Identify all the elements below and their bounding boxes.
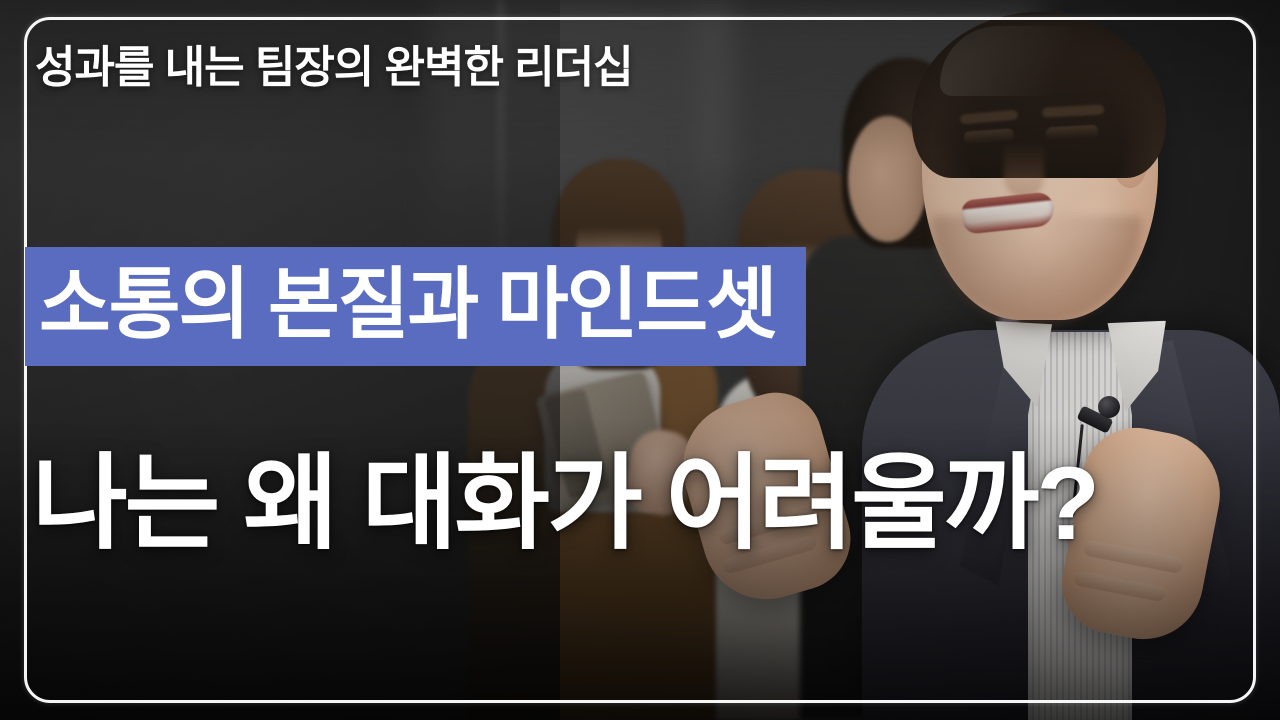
main-headline: 나는 왜 대화가 어려울까? — [32, 452, 1097, 556]
course-series-title: 성과를 내는 팀장의 완벽한 리더십 — [35, 45, 633, 91]
video-thumbnail: 성과를 내는 팀장의 완벽한 리더십 소통의 본질과 마인드셋 나는 왜 대화가… — [0, 0, 1280, 720]
lesson-topic-label: 소통의 본질과 마인드셋 — [39, 265, 776, 343]
lesson-topic-banner: 소통의 본질과 마인드셋 — [25, 247, 806, 366]
